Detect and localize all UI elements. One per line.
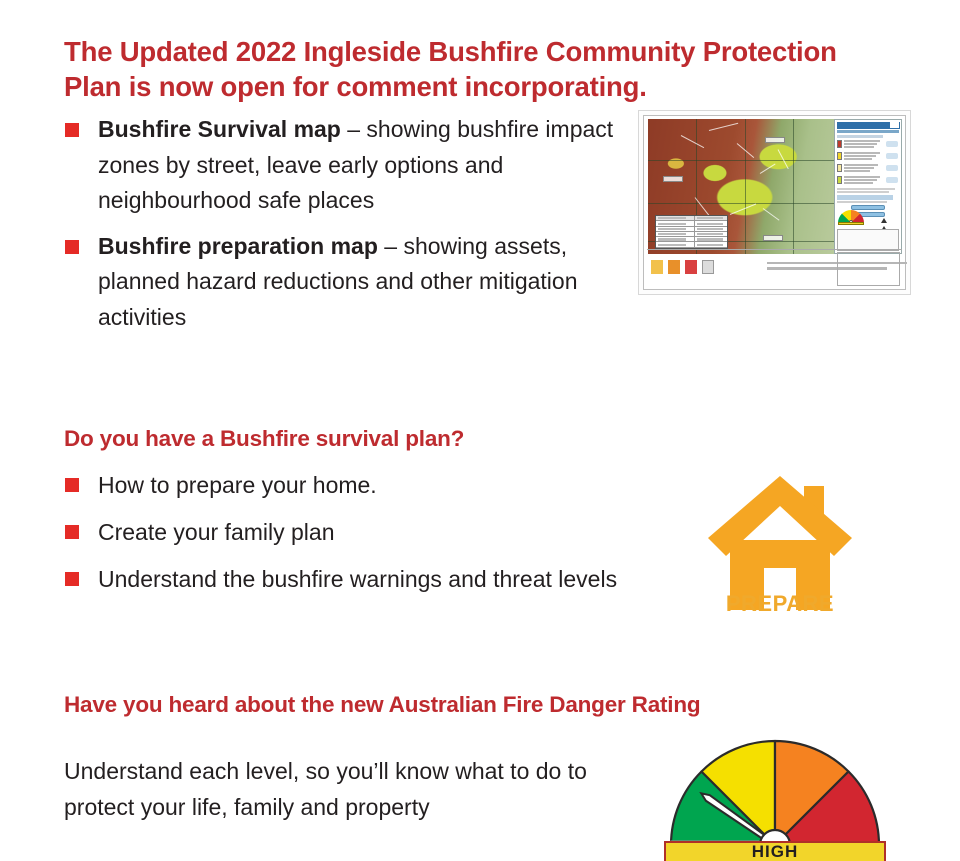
page-title-line-1: The Updated 2022 Ingleside Bushfire Comm…	[64, 36, 837, 67]
list-item: Bushfire Survival map – showing bushfire…	[64, 112, 620, 219]
document-icon	[702, 260, 714, 274]
bullet-square-icon	[65, 240, 79, 254]
map-thumbnail-frame	[643, 115, 906, 290]
map-legend-row	[837, 151, 899, 162]
list-item: Create your family plan	[64, 515, 624, 549]
map-legend-row	[837, 163, 899, 174]
afdr-body-text: Understand each level, so you’ll know wh…	[64, 754, 624, 825]
map-panel-logo	[890, 122, 899, 128]
map-panel-title	[837, 122, 900, 129]
map-inset-legend	[655, 215, 728, 249]
bullet-square-icon	[65, 478, 79, 492]
list-item-label: Bushfire preparation map	[98, 233, 378, 259]
bullet-square-icon	[65, 123, 79, 137]
map-terrain-image	[648, 119, 834, 254]
list-item-label: Bushfire Survival map	[98, 116, 341, 142]
survival-plan-heading: Do you have a Bushfire survival plan?	[64, 424, 664, 454]
warning-icon	[651, 260, 663, 274]
list-item: Bushfire preparation map – showing asset…	[64, 229, 620, 336]
flyer-page: The Updated 2022 Ingleside Bushfire Comm…	[0, 0, 960, 861]
bushfire-survival-map-thumbnail[interactable]	[638, 110, 911, 295]
list-item: Understand the bushfire warnings and thr…	[64, 562, 624, 596]
maps-bullet-list: Bushfire Survival map – showing bushfire…	[64, 112, 620, 335]
survival-plan-bullet-list: How to prepare your home. Create your fa…	[64, 468, 624, 596]
fire-danger-level-bar: HIGH	[664, 841, 886, 861]
afdr-heading: Have you heard about the new Australian …	[64, 690, 924, 720]
star-icon	[685, 260, 697, 274]
house-icon	[668, 260, 680, 274]
map-panel-fire-danger-gauge	[838, 210, 864, 225]
map-side-legend-panel	[834, 119, 902, 254]
map-legend-row	[837, 139, 899, 150]
list-item-text: Create your family plan	[98, 519, 335, 545]
map-footer-panel	[837, 252, 900, 286]
bullet-square-icon	[65, 572, 79, 586]
list-item-text: Understand the bushfire warnings and thr…	[98, 566, 617, 592]
map-footer-icons	[651, 260, 714, 274]
list-item-text: How to prepare your home.	[98, 472, 377, 498]
prepare-label: PREPARE	[700, 591, 860, 617]
list-item: How to prepare your home.	[64, 468, 624, 502]
map-footer	[647, 249, 902, 287]
bullet-square-icon	[65, 525, 79, 539]
page-title: The Updated 2022 Ingleside Bushfire Comm…	[64, 34, 894, 104]
map-legend-row	[837, 175, 899, 186]
page-title-line-2: Plan is now open for comment incorporati…	[64, 71, 647, 102]
map-panel-note	[837, 229, 899, 251]
